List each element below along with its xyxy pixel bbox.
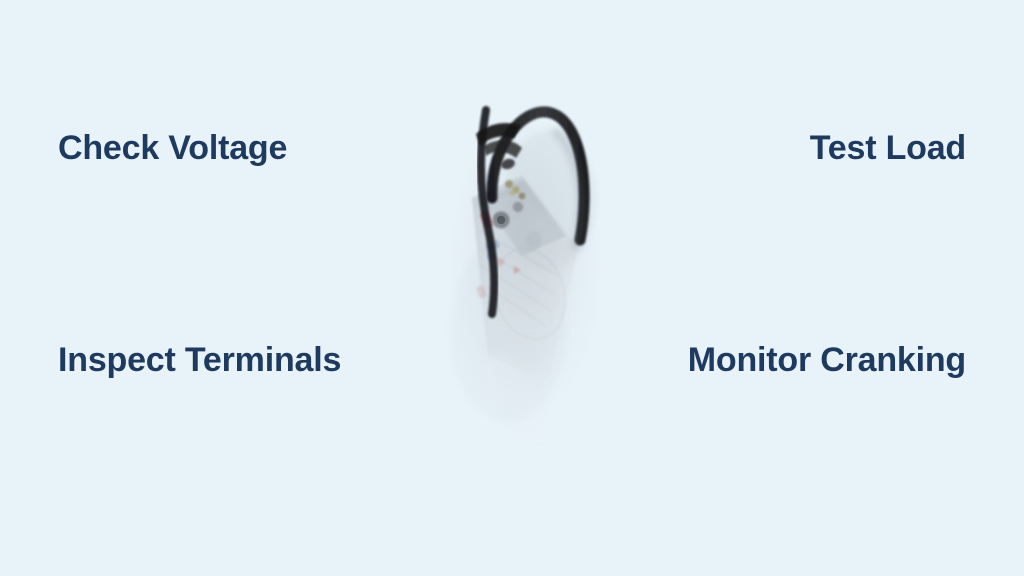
- label-inspect-terminals: Inspect Terminals: [58, 340, 341, 380]
- image-fade-lower: [476, 328, 556, 460]
- image-haze: [450, 120, 600, 422]
- battery-body: [472, 176, 578, 380]
- jumper-cables: [476, 110, 584, 314]
- car-battery-image: [430, 80, 630, 460]
- battery-terminals: [493, 180, 526, 229]
- label-test-load: Test Load: [810, 128, 966, 168]
- slide-canvas: Check Voltage Test Load Inspect Terminal…: [0, 0, 1024, 576]
- label-check-voltage: Check Voltage: [58, 128, 287, 168]
- label-monitor-cranking: Monitor Cranking: [688, 340, 966, 380]
- battery-label-decals: [476, 211, 521, 299]
